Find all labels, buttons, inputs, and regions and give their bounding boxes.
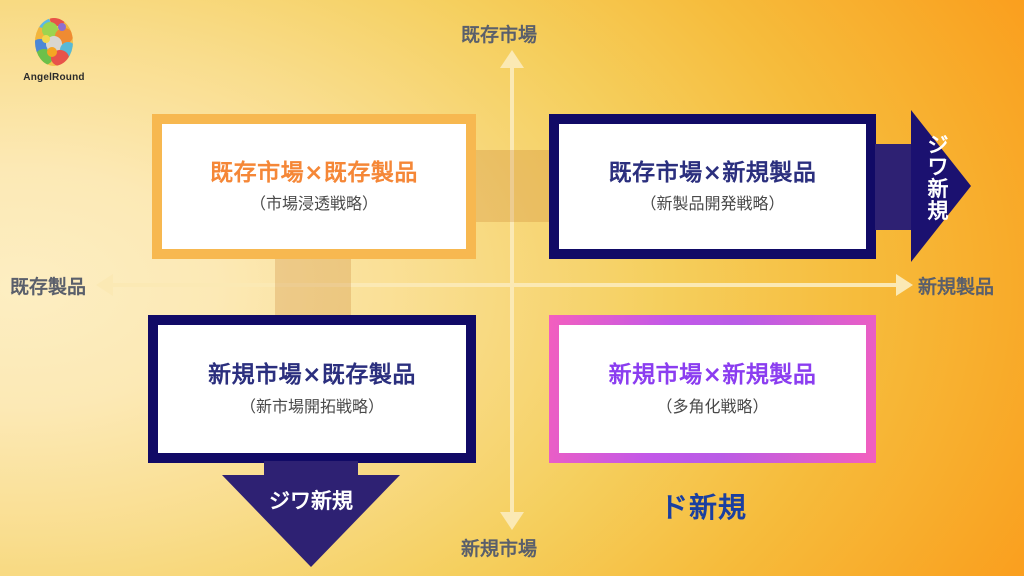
callout-char-3: 新 (913, 178, 963, 200)
quadrant-new-market-new-product[interactable]: 新規市場×新規製品 （多角化戦略） (549, 315, 876, 463)
vertical-axis-line (510, 58, 514, 520)
vertical-connector-band (275, 250, 351, 322)
quadrant-title: 新規市場×既存製品 (208, 362, 416, 390)
quadrant-inner: 新規市場×既存製品 （新市場開拓戦略） (158, 325, 466, 453)
quadrant-existing-market-existing-product[interactable]: 既存市場×既存製品 （市場浸透戦略） (152, 114, 476, 259)
axis-label-bottom: 新規市場 (461, 534, 537, 561)
brand-logo: AngelRound (22, 12, 86, 83)
quadrant-subtitle: （多角化戦略） (656, 397, 768, 416)
axis-label-right: 新規製品 (918, 272, 994, 299)
quadrant-existing-market-new-product[interactable]: 既存市場×新規製品 （新製品開発戦略） (549, 114, 876, 259)
quadrant-inner: 既存市場×既存製品 （市場浸透戦略） (162, 124, 466, 249)
callout-char-1: ジ (913, 134, 963, 156)
callout-arrow-down-label: ジワ新規 (222, 485, 400, 515)
brand-name: AngelRound (22, 72, 86, 83)
quadrant-title: 既存市場×新規製品 (609, 160, 817, 188)
quadrant-subtitle: （新市場開拓戦略） (240, 397, 384, 416)
callout-arrow-right: ジ ワ 新 規 (875, 110, 971, 262)
axis-label-left: 既存製品 (10, 272, 86, 299)
quadrant-title: 新規市場×新規製品 (609, 362, 817, 390)
axis-up-arrow-icon (500, 50, 524, 68)
axis-left-arrow-icon (96, 274, 113, 296)
quadrant-inner: 既存市場×新規製品 （新製品開発戦略） (559, 124, 866, 249)
slide-canvas: AngelRound 既存市場 新規市場 既存製品 新規製品 既存市場×既存製品… (0, 0, 1024, 576)
egg-logo-icon (32, 12, 76, 68)
quadrant-subtitle: （市場浸透戦略） (250, 194, 378, 213)
axis-down-arrow-icon (500, 512, 524, 530)
quadrant-inner: 新規市場×新規製品 （多角化戦略） (559, 325, 866, 453)
axis-label-top: 既存市場 (461, 20, 537, 47)
quadrant-new-market-existing-product[interactable]: 新規市場×既存製品 （新市場開拓戦略） (148, 315, 476, 463)
callout-arrow-down: ジワ新規 (222, 461, 400, 565)
callout-char-4: 規 (913, 200, 963, 222)
callout-do-shinki-label: ド新規 (660, 486, 747, 526)
callout-char-2: ワ (913, 156, 963, 178)
horizontal-axis-line (110, 283, 900, 287)
quadrant-subtitle: （新製品開発戦略） (640, 194, 784, 213)
quadrant-title: 既存市場×既存製品 (210, 160, 418, 188)
axis-right-arrow-icon (896, 274, 913, 296)
horizontal-connector-band (466, 150, 562, 222)
callout-arrow-right-label: ジ ワ 新 規 (913, 134, 963, 222)
